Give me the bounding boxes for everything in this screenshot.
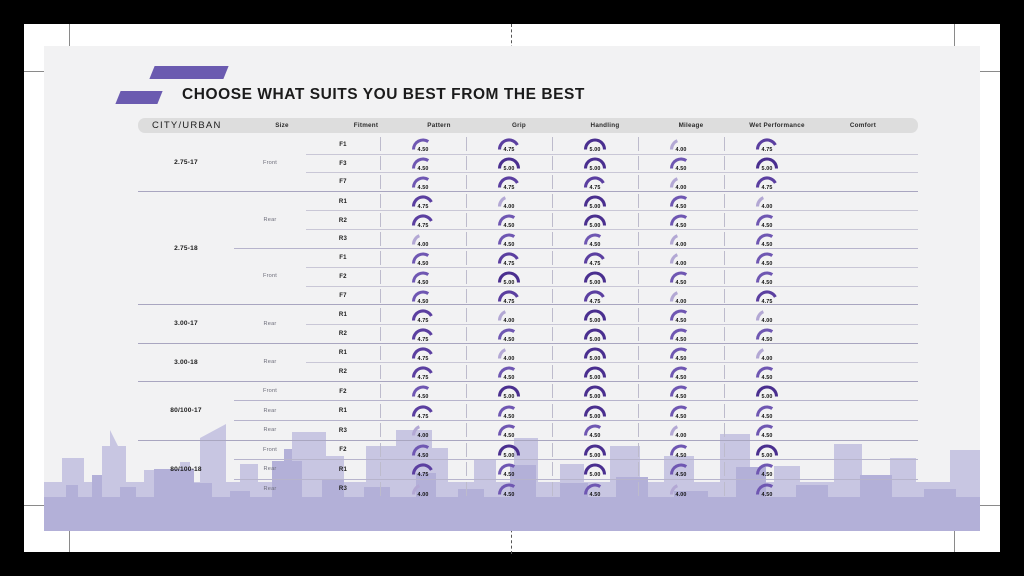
- fitment-stack: FrontF24.505.005.004.505.00RearR14.754.5…: [234, 382, 918, 440]
- rating-cell-handling: 5.00: [466, 441, 552, 459]
- rating-cell-wet-performance: 4.00: [638, 421, 724, 439]
- gauge-value: 4.75: [489, 261, 529, 267]
- gauge-value: 4.75: [403, 223, 443, 229]
- fitment-group: RearR34.004.504.504.004.50: [234, 479, 918, 499]
- size-label: 80/100-18: [138, 441, 234, 499]
- gauge-mileage: 5.00: [575, 306, 615, 324]
- gauge-value: 5.00: [575, 147, 615, 153]
- gauge-comfort: 4.50: [747, 363, 787, 381]
- size-group: 3.00-17RearR14.754.005.004.504.00R24.754…: [138, 304, 918, 342]
- page-title: CHOOSE WHAT SUITS YOU BEST FROM THE BEST: [182, 86, 585, 104]
- gauge-grip: 4.00: [403, 480, 443, 498]
- gauge-handling: 4.75: [489, 287, 529, 305]
- rating-cell-mileage: 4.50: [552, 230, 638, 248]
- rating-cell-wet-performance: 4.50: [638, 268, 724, 286]
- fitment-label: Rear: [234, 480, 306, 499]
- rating-cell-mileage: 5.00: [552, 135, 638, 153]
- size-label: 2.75-17: [138, 135, 234, 191]
- fitment-label: Rear: [234, 305, 306, 342]
- rating-cell-wet-performance: 4.50: [638, 306, 724, 324]
- rating-cell-grip: 4.50: [380, 154, 466, 172]
- rating-cell-handling: 4.00: [466, 192, 552, 210]
- gauge-value: 4.00: [747, 356, 787, 362]
- fitment-label: Front: [234, 441, 306, 460]
- gauge-value: 4.00: [489, 356, 529, 362]
- gauge-wet-performance: 4.50: [661, 344, 701, 362]
- table-row: R14.754.005.004.504.00: [306, 344, 918, 363]
- gauge-wet-performance: 4.00: [661, 421, 701, 439]
- pattern-label: R1: [306, 407, 380, 414]
- rating-cell-grip: 4.50: [380, 441, 466, 459]
- gauge-value: 4.50: [661, 394, 701, 400]
- gauge-value: 4.00: [403, 433, 443, 439]
- rating-cell-wet-performance: 4.50: [638, 382, 724, 400]
- gauge-value: 4.50: [403, 147, 443, 153]
- fitment-stack: RearR14.754.005.004.504.00R24.754.505.00…: [234, 344, 918, 381]
- pattern-label: F2: [306, 273, 380, 280]
- gauge-comfort: 4.50: [747, 480, 787, 498]
- gauge-value: 4.00: [747, 318, 787, 324]
- rating-cell-comfort: 4.75: [724, 287, 810, 305]
- gauge-handling: 4.50: [489, 460, 529, 478]
- gauge-handling: 4.50: [489, 363, 529, 381]
- table-row: F14.504.754.754.004.50: [306, 249, 918, 268]
- rating-cell-mileage: 5.00: [552, 325, 638, 343]
- gauge-mileage: 5.00: [575, 325, 615, 343]
- pattern-label: F7: [306, 178, 380, 185]
- rating-cell-grip: 4.00: [380, 480, 466, 498]
- gauge-handling: 4.50: [489, 230, 529, 248]
- gauge-value: 4.50: [661, 375, 701, 381]
- fitment-label: Rear: [234, 344, 306, 381]
- gauge-value: 4.50: [489, 472, 529, 478]
- gauge-value: 4.75: [489, 147, 529, 153]
- header-pattern: Pattern: [402, 122, 476, 129]
- rating-cell-wet-performance: 4.50: [638, 344, 724, 362]
- gauge-mileage: 5.00: [575, 268, 615, 286]
- rating-cell-handling: 4.50: [466, 230, 552, 248]
- pattern-stack: R14.754.505.004.504.50: [306, 460, 918, 479]
- gauge-comfort: 4.00: [747, 344, 787, 362]
- rating-cell-mileage: 5.00: [552, 363, 638, 381]
- gauge-value: 4.50: [747, 261, 787, 267]
- rating-cell-grip: 4.75: [380, 192, 466, 210]
- gauge-grip: 4.75: [403, 325, 443, 343]
- fitment-stack: RearR14.754.005.004.504.00R24.754.505.00…: [234, 305, 918, 342]
- rating-cell-grip: 4.00: [380, 230, 466, 248]
- gauge-value: 5.00: [489, 280, 529, 286]
- rating-cell-mileage: 5.00: [552, 441, 638, 459]
- gauge-value: 4.50: [575, 433, 615, 439]
- rating-cell-comfort: 4.75: [724, 173, 810, 191]
- gauge-value: 4.75: [575, 299, 615, 305]
- pattern-label: F2: [306, 388, 380, 395]
- pattern-stack: F24.505.005.004.505.00: [306, 382, 918, 401]
- gauge-grip: 4.50: [403, 382, 443, 400]
- rating-cell-grip: 4.50: [380, 268, 466, 286]
- rating-cell-wet-performance: 4.00: [638, 287, 724, 305]
- gauge-value: 4.50: [661, 356, 701, 362]
- gauge-value: 4.50: [661, 280, 701, 286]
- gauge-mileage: 5.00: [575, 441, 615, 459]
- table-row: F74.504.754.754.004.75: [306, 172, 918, 191]
- rating-cell-mileage: 5.00: [552, 344, 638, 362]
- pattern-stack: R34.004.504.504.004.50: [306, 480, 918, 499]
- rating-cell-comfort: 4.50: [724, 268, 810, 286]
- gauge-value: 4.00: [661, 185, 701, 191]
- gauge-mileage: 4.75: [575, 173, 615, 191]
- fitment-stack: FrontF24.505.005.004.505.00RearR14.754.5…: [234, 441, 918, 499]
- gauge-value: 5.00: [575, 280, 615, 286]
- gauge-value: 4.50: [661, 223, 701, 229]
- gauge-wet-performance: 4.00: [661, 135, 701, 153]
- table-row: F24.505.005.004.505.00: [306, 382, 918, 401]
- gauge-wet-performance: 4.50: [661, 402, 701, 420]
- size-group: 80/100-17FrontF24.505.005.004.505.00Rear…: [138, 381, 918, 440]
- fitment-label: Rear: [234, 421, 306, 440]
- gauge-value: 4.50: [489, 223, 529, 229]
- gauge-value: 4.75: [403, 375, 443, 381]
- pattern-stack: R14.754.005.004.504.00R24.754.505.004.50…: [306, 192, 918, 248]
- rating-cell-wet-performance: 4.50: [638, 441, 724, 459]
- gauge-value: 4.50: [661, 166, 701, 172]
- gauge-value: 4.75: [403, 414, 443, 420]
- gauge-grip: 4.75: [403, 363, 443, 381]
- rating-cell-mileage: 5.00: [552, 154, 638, 172]
- pattern-label: R1: [306, 466, 380, 473]
- gauge-value: 4.50: [489, 433, 529, 439]
- rating-cell-wet-performance: 4.00: [638, 249, 724, 267]
- gauge-mileage: 5.00: [575, 192, 615, 210]
- rating-cell-comfort: 4.50: [724, 211, 810, 229]
- rating-cell-mileage: 4.50: [552, 421, 638, 439]
- fitment-group: RearR14.754.005.004.504.00R24.754.505.00…: [234, 344, 918, 381]
- table-header-row: CITY/URBAN Size Fitment Pattern Grip Han…: [138, 118, 918, 133]
- gauge-wet-performance: 4.50: [661, 363, 701, 381]
- gauge-comfort: 4.50: [747, 421, 787, 439]
- rating-cell-wet-performance: 4.50: [638, 402, 724, 420]
- pattern-label: F1: [306, 141, 380, 148]
- gauge-value: 4.75: [403, 472, 443, 478]
- gauge-wet-performance: 4.50: [661, 154, 701, 172]
- rating-cell-handling: 4.50: [466, 421, 552, 439]
- rating-cell-comfort: 4.00: [724, 192, 810, 210]
- gauge-value: 4.00: [747, 204, 787, 210]
- rating-cell-mileage: 5.00: [552, 268, 638, 286]
- gauge-value: 4.00: [403, 242, 443, 248]
- gauge-value: 5.00: [575, 394, 615, 400]
- rating-cell-grip: 4.50: [380, 135, 466, 153]
- gauge-value: 4.50: [747, 414, 787, 420]
- table-row: R24.754.505.004.504.50: [306, 362, 918, 381]
- gauge-handling: 5.00: [489, 268, 529, 286]
- gauge-value: 4.75: [747, 147, 787, 153]
- pattern-label: R1: [306, 198, 380, 205]
- gauge-value: 4.50: [747, 337, 787, 343]
- gauge-value: 5.00: [747, 166, 787, 172]
- rating-cell-handling: 4.50: [466, 211, 552, 229]
- rating-cell-grip: 4.50: [380, 382, 466, 400]
- gauge-grip: 4.75: [403, 306, 443, 324]
- pattern-label: R3: [306, 427, 380, 434]
- comparison-table: CITY/URBAN Size Fitment Pattern Grip Han…: [138, 118, 918, 498]
- table-row: R14.754.005.004.504.00: [306, 192, 918, 211]
- gauge-value: 4.50: [489, 242, 529, 248]
- size-group: 80/100-18FrontF24.505.005.004.505.00Rear…: [138, 440, 918, 499]
- gauge-value: 4.50: [661, 318, 701, 324]
- rating-cell-comfort: 4.50: [724, 402, 810, 420]
- pattern-stack: R14.754.005.004.504.00R24.754.505.004.50…: [306, 305, 918, 342]
- gauge-value: 5.00: [575, 414, 615, 420]
- rating-cell-mileage: 4.75: [552, 287, 638, 305]
- gauge-wet-performance: 4.00: [661, 287, 701, 305]
- fitment-stack: FrontF14.504.755.004.004.75F34.505.005.0…: [234, 135, 918, 191]
- gauge-mileage: 5.00: [575, 344, 615, 362]
- gauge-wet-performance: 4.50: [661, 325, 701, 343]
- gauge-mileage: 5.00: [575, 363, 615, 381]
- gauge-mileage: 4.50: [575, 480, 615, 498]
- rating-cell-comfort: 4.50: [724, 421, 810, 439]
- fitment-group: RearR14.754.505.004.504.50: [234, 459, 918, 479]
- gauge-comfort: 4.50: [747, 325, 787, 343]
- fitment-group: RearR14.754.005.004.504.00R24.754.505.00…: [234, 192, 918, 248]
- rating-cell-comfort: 4.50: [724, 325, 810, 343]
- table-row: R24.754.505.004.504.50: [306, 324, 918, 343]
- gauge-wet-performance: 4.00: [661, 480, 701, 498]
- gauge-handling: 4.75: [489, 249, 529, 267]
- fitment-group: RearR14.754.005.004.504.00R24.754.505.00…: [234, 305, 918, 342]
- pattern-label: F7: [306, 292, 380, 299]
- rating-cell-mileage: 5.00: [552, 306, 638, 324]
- fitment-label: Rear: [234, 401, 306, 420]
- pattern-label: R3: [306, 485, 380, 492]
- fitment-label: Front: [234, 249, 306, 305]
- size-group: 3.00-18RearR14.754.005.004.504.00R24.754…: [138, 343, 918, 381]
- gauge-handling: 4.00: [489, 306, 529, 324]
- header-wet-performance: Wet Performance: [734, 122, 820, 129]
- table-row: R14.754.505.004.504.50: [306, 460, 918, 479]
- rating-cell-wet-performance: 4.00: [638, 173, 724, 191]
- gauge-value: 4.50: [489, 337, 529, 343]
- gauge-value: 5.00: [489, 453, 529, 459]
- header-brand: CITY/URBAN: [138, 120, 234, 131]
- fitment-group: FrontF24.505.005.004.505.00: [234, 382, 918, 401]
- gauge-mileage: 5.00: [575, 382, 615, 400]
- rating-cell-handling: 4.75: [466, 287, 552, 305]
- rating-cell-handling: 4.75: [466, 249, 552, 267]
- gauge-grip: 4.50: [403, 441, 443, 459]
- gauge-value: 4.75: [575, 185, 615, 191]
- rating-cell-comfort: 4.50: [724, 230, 810, 248]
- size-label: 3.00-18: [138, 344, 234, 381]
- rating-cell-handling: 4.50: [466, 402, 552, 420]
- fitment-stack: RearR14.754.005.004.504.00R24.754.505.00…: [234, 192, 918, 305]
- rating-cell-grip: 4.75: [380, 402, 466, 420]
- gauge-value: 4.50: [403, 166, 443, 172]
- gauge-value: 4.00: [661, 261, 701, 267]
- pattern-label: R1: [306, 349, 380, 356]
- rating-cell-comfort: 5.00: [724, 441, 810, 459]
- gauge-handling: 5.00: [489, 382, 529, 400]
- gauge-value: 4.50: [747, 280, 787, 286]
- rating-cell-grip: 4.75: [380, 306, 466, 324]
- gauge-value: 4.50: [661, 453, 701, 459]
- gauge-value: 4.00: [661, 147, 701, 153]
- gauge-value: 5.00: [575, 472, 615, 478]
- table-row: R34.004.504.504.004.50: [306, 480, 918, 499]
- gauge-grip: 4.00: [403, 230, 443, 248]
- rating-cell-handling: 4.50: [466, 325, 552, 343]
- gauge-value: 4.50: [747, 223, 787, 229]
- rating-cell-wet-performance: 4.00: [638, 230, 724, 248]
- gauge-handling: 4.00: [489, 344, 529, 362]
- fitment-group: FrontF14.504.754.754.004.50F24.505.005.0…: [234, 248, 918, 305]
- rating-cell-wet-performance: 4.50: [638, 154, 724, 172]
- rating-cell-mileage: 5.00: [552, 460, 638, 478]
- gauge-grip: 4.75: [403, 460, 443, 478]
- rating-cell-grip: 4.50: [380, 173, 466, 191]
- gauge-value: 4.75: [403, 318, 443, 324]
- gauge-value: 4.50: [403, 453, 443, 459]
- rating-cell-grip: 4.75: [380, 363, 466, 381]
- gauge-value: 4.50: [403, 185, 443, 191]
- size-label: 2.75-18: [138, 192, 234, 305]
- gauge-handling: 5.00: [489, 154, 529, 172]
- table-row: R24.754.505.004.504.50: [306, 210, 918, 229]
- gauge-value: 5.00: [575, 204, 615, 210]
- header-comfort: Comfort: [820, 122, 906, 129]
- fitment-label: Rear: [234, 460, 306, 479]
- gauge-value: 4.75: [403, 204, 443, 210]
- gauge-grip: 4.50: [403, 135, 443, 153]
- accent-bar-lower-icon: [115, 91, 162, 104]
- rating-cell-handling: 5.00: [466, 154, 552, 172]
- gauge-value: 4.50: [575, 242, 615, 248]
- rating-cell-wet-performance: 4.00: [638, 480, 724, 498]
- table-row: F24.505.005.004.505.00: [306, 441, 918, 460]
- gauge-comfort: 4.50: [747, 249, 787, 267]
- fitment-label: Rear: [234, 192, 306, 248]
- rating-cell-handling: 4.00: [466, 306, 552, 324]
- gauge-value: 4.75: [403, 356, 443, 362]
- header-fitment: Fitment: [330, 122, 402, 129]
- gauge-value: 4.50: [661, 414, 701, 420]
- header-mileage: Mileage: [648, 122, 734, 129]
- gauge-comfort: 4.50: [747, 211, 787, 229]
- gauge-value: 4.00: [661, 433, 701, 439]
- gauge-value: 4.75: [489, 299, 529, 305]
- gauge-wet-performance: 4.00: [661, 249, 701, 267]
- gauge-value: 4.00: [403, 492, 443, 498]
- gauge-comfort: 5.00: [747, 382, 787, 400]
- rating-cell-wet-performance: 4.50: [638, 325, 724, 343]
- rating-cell-comfort: 5.00: [724, 154, 810, 172]
- slide: CHOOSE WHAT SUITS YOU BEST FROM THE BEST…: [44, 46, 980, 531]
- gauge-grip: 4.50: [403, 249, 443, 267]
- rating-cell-mileage: 4.75: [552, 249, 638, 267]
- gauge-value: 4.50: [489, 375, 529, 381]
- gauge-value: 5.00: [575, 453, 615, 459]
- gauge-comfort: 4.50: [747, 402, 787, 420]
- fitment-group: FrontF24.505.005.004.505.00: [234, 441, 918, 460]
- accent-bar-upper-icon: [149, 66, 228, 79]
- gauge-grip: 4.00: [403, 421, 443, 439]
- table-row: R14.754.505.004.504.50: [306, 401, 918, 420]
- rating-cell-wet-performance: 4.50: [638, 363, 724, 381]
- gauge-handling: 4.00: [489, 192, 529, 210]
- rating-cell-handling: 4.75: [466, 135, 552, 153]
- pattern-label: R2: [306, 217, 380, 224]
- gauge-wet-performance: 4.50: [661, 211, 701, 229]
- gauge-mileage: 4.75: [575, 249, 615, 267]
- pattern-stack: F24.505.005.004.505.00: [306, 441, 918, 460]
- rating-cell-handling: 4.50: [466, 363, 552, 381]
- fitment-label: Front: [234, 382, 306, 401]
- gauge-comfort: 4.00: [747, 192, 787, 210]
- rating-cell-comfort: 4.50: [724, 249, 810, 267]
- rating-cell-grip: 4.50: [380, 249, 466, 267]
- rating-cell-mileage: 5.00: [552, 382, 638, 400]
- gauge-mileage: 4.50: [575, 230, 615, 248]
- gauge-mileage: 5.00: [575, 460, 615, 478]
- gauge-mileage: 4.75: [575, 287, 615, 305]
- gauge-value: 4.75: [575, 261, 615, 267]
- pattern-stack: F14.504.755.004.004.75F34.505.005.004.50…: [306, 135, 918, 191]
- gauge-value: 4.75: [747, 185, 787, 191]
- header-grip: Grip: [476, 122, 562, 129]
- rating-cell-handling: 4.75: [466, 173, 552, 191]
- gauge-grip: 4.75: [403, 344, 443, 362]
- gauge-grip: 4.75: [403, 192, 443, 210]
- pattern-stack: R34.004.504.504.004.50: [306, 421, 918, 440]
- gauge-value: 4.50: [489, 414, 529, 420]
- gauge-value: 4.50: [661, 472, 701, 478]
- gauge-value: 5.00: [747, 453, 787, 459]
- pattern-label: F2: [306, 446, 380, 453]
- rating-cell-mileage: 4.75: [552, 173, 638, 191]
- fitment-label: Front: [234, 135, 306, 191]
- gauge-value: 4.00: [489, 204, 529, 210]
- gauge-value: 4.50: [403, 299, 443, 305]
- table-row: R34.004.504.504.004.50: [306, 229, 918, 248]
- gauge-value: 5.00: [575, 375, 615, 381]
- gauge-value: 4.00: [661, 242, 701, 248]
- gauge-mileage: 5.00: [575, 135, 615, 153]
- gauge-grip: 4.50: [403, 287, 443, 305]
- rating-cell-wet-performance: 4.00: [638, 135, 724, 153]
- rating-cell-grip: 4.75: [380, 344, 466, 362]
- gauge-value: 4.75: [747, 299, 787, 305]
- gauge-value: 4.50: [747, 492, 787, 498]
- gauge-handling: 4.50: [489, 325, 529, 343]
- gauge-value: 5.00: [489, 166, 529, 172]
- pattern-stack: F14.504.754.754.004.50F24.505.005.004.50…: [306, 249, 918, 305]
- fitment-group: RearR34.004.504.504.004.50: [234, 420, 918, 440]
- table-row: F34.505.005.004.505.00: [306, 154, 918, 173]
- rating-cell-handling: 4.50: [466, 460, 552, 478]
- gauge-handling: 4.50: [489, 480, 529, 498]
- gauge-grip: 4.50: [403, 173, 443, 191]
- table-row: R14.754.005.004.504.00: [306, 305, 918, 324]
- gauge-handling: 4.50: [489, 402, 529, 420]
- gauge-value: 4.50: [403, 280, 443, 286]
- rating-cell-comfort: 4.50: [724, 460, 810, 478]
- rating-cell-grip: 4.75: [380, 460, 466, 478]
- size-label: 3.00-17: [138, 305, 234, 342]
- gauge-wet-performance: 4.50: [661, 268, 701, 286]
- gauge-comfort: 4.50: [747, 230, 787, 248]
- header-handling: Handling: [562, 122, 648, 129]
